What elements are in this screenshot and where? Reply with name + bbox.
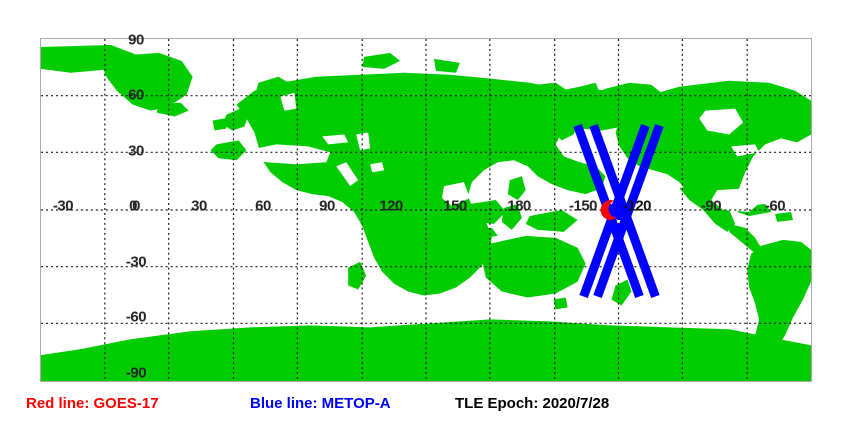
tle-epoch-label: TLE Epoch: 2020/7/28 [455,396,609,411]
goes-17-marker-group[interactable] [41,39,811,381]
satellite-ground-track-map: -30 0 30 60 90 120 150 180 -150 -120 -90… [0,0,850,425]
legend-goes17: Red line: GOES-17 [26,396,159,411]
legend-footer: Red line: GOES-17 Blue line: METOP-A TLE… [0,396,850,422]
legend-metop-a: Blue line: METOP-A [250,396,391,411]
map-plot-area[interactable] [40,38,812,382]
goes-17-crescent-marker[interactable] [41,39,811,381]
world-map-svg [41,39,811,381]
